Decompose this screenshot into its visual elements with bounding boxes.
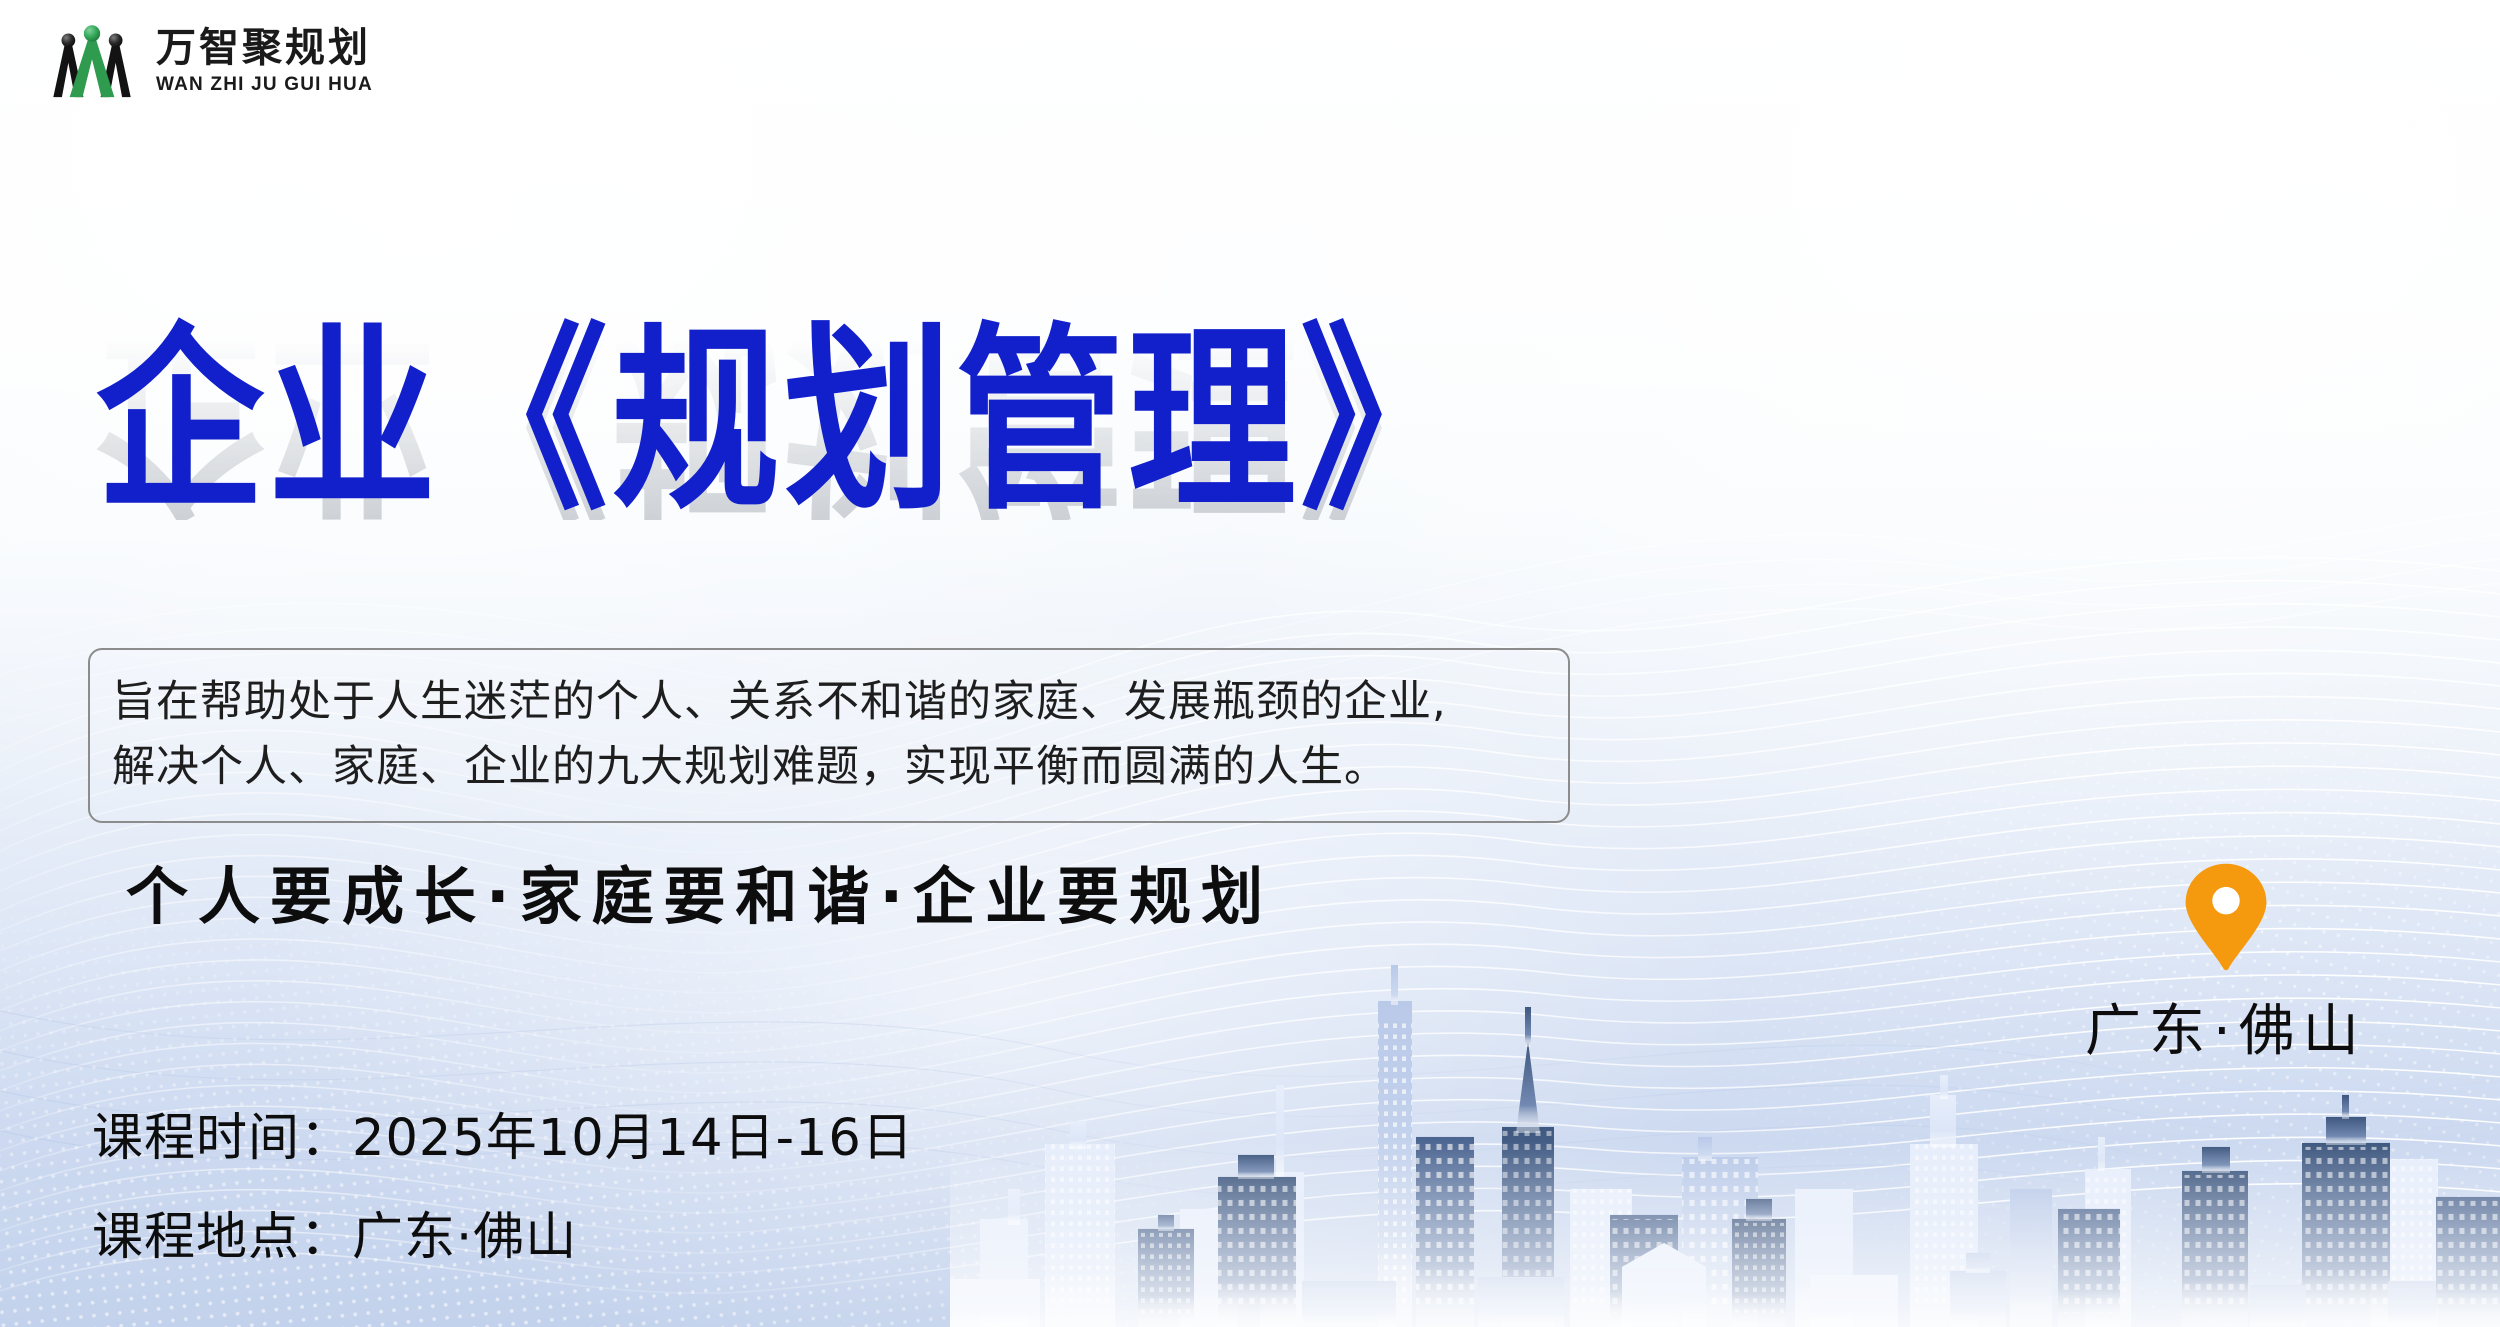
tagline: 个人要成长·家庭要和谐·企业要规划: [126, 846, 1273, 936]
location-label: 广东·佛山: [2085, 986, 2367, 1067]
description-line-2: 解决个人、家庭、企业的九大规划难题，实现平衡而圆满的人生。: [112, 735, 1546, 800]
location-block: 广东·佛山: [2085, 862, 2367, 1067]
course-place: 课程地点：广东·佛山: [92, 1212, 914, 1263]
page-title: 企业《规划管理》: [96, 322, 1656, 520]
map-pin-icon: [2183, 862, 2269, 972]
brand-name-cn: 万智聚规划: [156, 27, 373, 69]
poster-canvas: 万智聚规划 WAN ZHI JU GUI HUA 企业《规划管理》 企业《规划管…: [0, 0, 2500, 1327]
hero-title-block: 企业《规划管理》 企业《规划管理》: [96, 322, 1656, 490]
description-box: 旨在帮助处于人生迷茫的个人、关系不和谐的家庭、发展瓶颈的企业, 解决个人、家庭、…: [88, 648, 1570, 823]
description-line-1: 旨在帮助处于人生迷茫的个人、关系不和谐的家庭、发展瓶颈的企业,: [112, 670, 1546, 735]
course-info-block: 课程时间：2025年10月14日-16日 课程地点：广东·佛山: [92, 1113, 914, 1263]
three-people-logo-icon: [48, 18, 136, 104]
course-date: 课程时间：2025年10月14日-16日: [92, 1113, 914, 1164]
brand-name-pinyin: WAN ZHI JU GUI HUA: [156, 74, 373, 96]
brand-logo[interactable]: 万智聚规划 WAN ZHI JU GUI HUA: [48, 18, 373, 104]
